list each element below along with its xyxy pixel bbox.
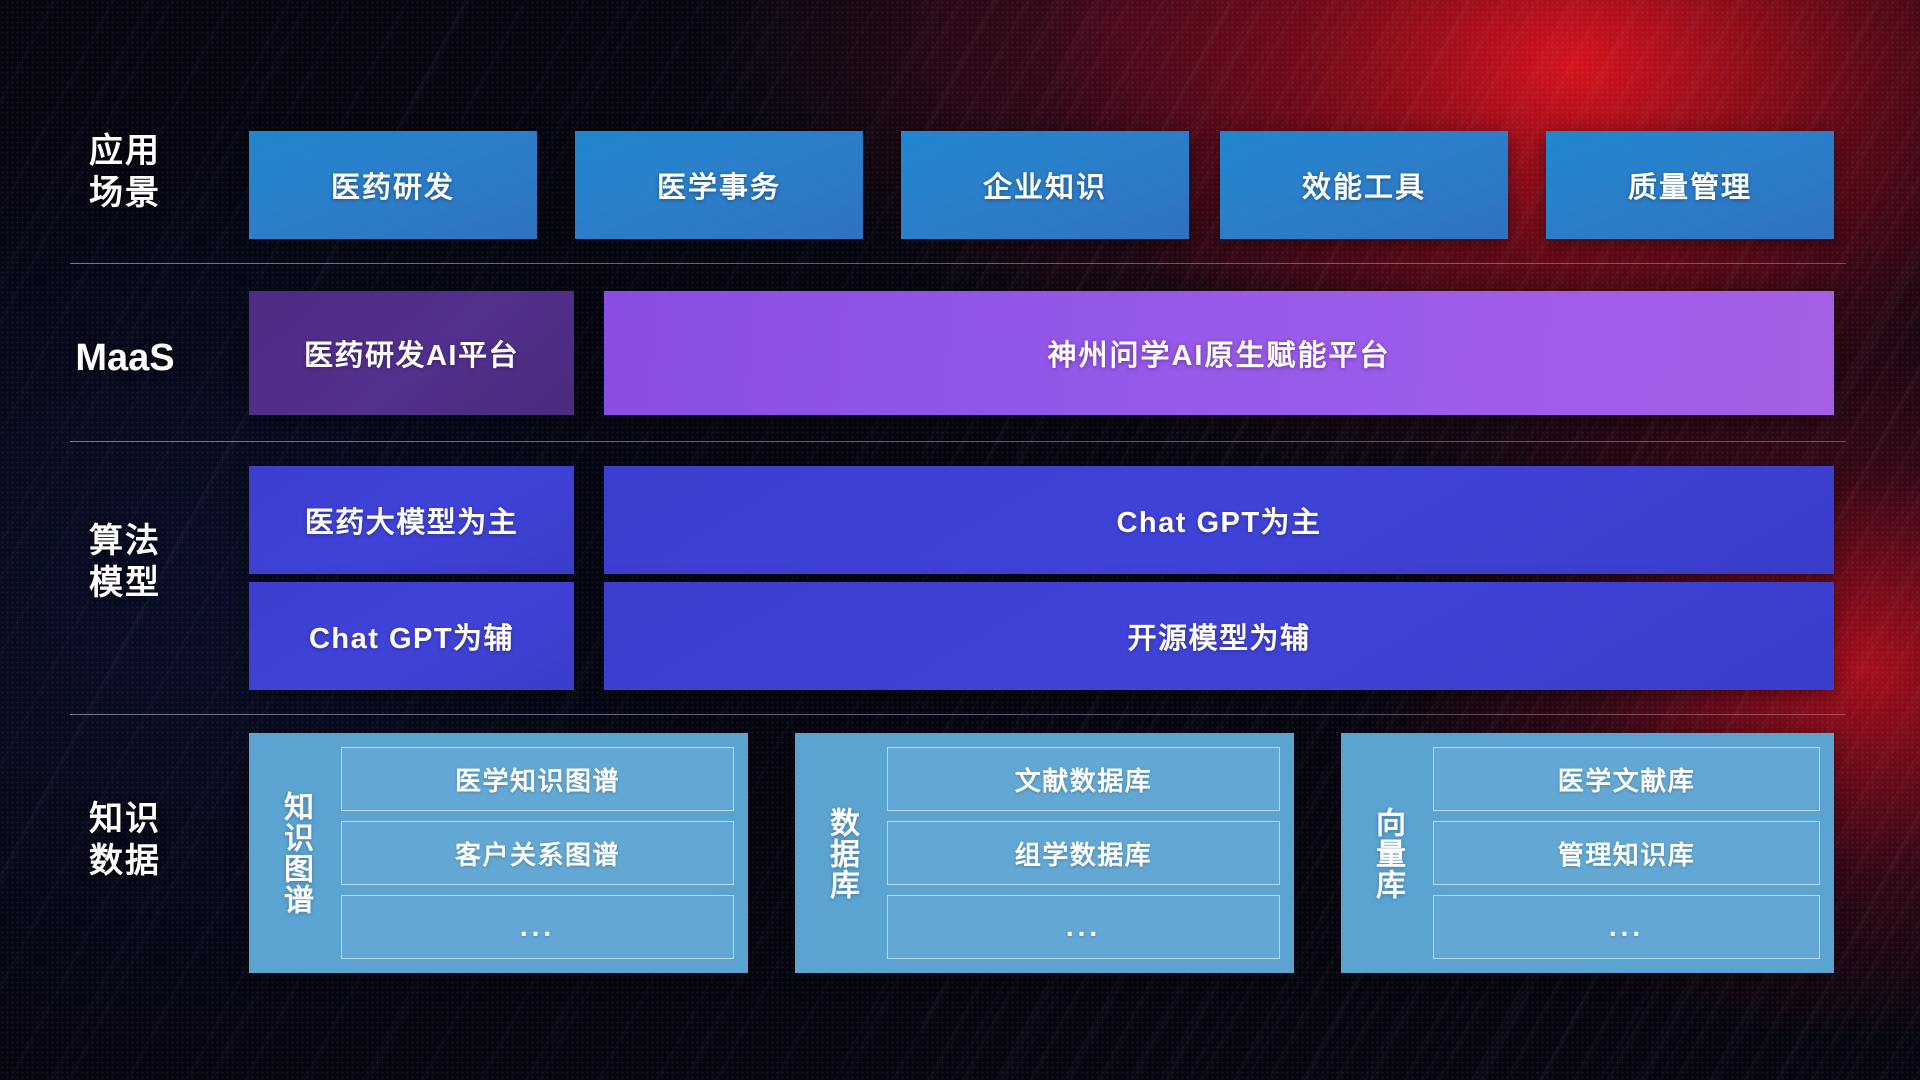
- knowledge-group-vector-store: 向量库 医学文献库 管理知识库 ...: [1341, 733, 1834, 973]
- knowledge-group-title: 向量库: [1341, 747, 1433, 959]
- row-label-algorithm-model: 算法 模型: [30, 520, 220, 604]
- divider-3: [70, 714, 1846, 715]
- knowledge-item-more[interactable]: ...: [1433, 895, 1820, 959]
- algo-left-primary[interactable]: 医药大模型为主: [249, 466, 574, 574]
- algo-right-secondary[interactable]: 开源模型为辅: [604, 582, 1834, 690]
- app-scenario-item-1[interactable]: 医学事务: [575, 131, 863, 239]
- knowledge-item[interactable]: 医学知识图谱: [341, 747, 734, 811]
- knowledge-item[interactable]: 管理知识库: [1433, 821, 1820, 885]
- row-label-line-2: 数据: [30, 840, 220, 882]
- app-scenario-item-0[interactable]: 医药研发: [249, 131, 537, 239]
- knowledge-group-items: 医学知识图谱 客户关系图谱 ...: [341, 747, 734, 959]
- row-label-line-1: 算法: [30, 520, 220, 562]
- slide-canvas: 应用 场景 医药研发 医学事务 企业知识 效能工具 质量管理 MaaS 医药研发…: [0, 0, 1920, 1080]
- row-label-line-2: 场景: [30, 172, 220, 214]
- knowledge-item[interactable]: 客户关系图谱: [341, 821, 734, 885]
- architecture-diagram: 应用 场景 医药研发 医学事务 企业知识 效能工具 质量管理 MaaS 医药研发…: [0, 0, 1920, 1080]
- knowledge-group-title: 知识图谱: [249, 747, 341, 959]
- knowledge-group-knowledge-graph: 知识图谱 医学知识图谱 客户关系图谱 ...: [249, 733, 748, 973]
- knowledge-group-database: 数据库 文献数据库 组学数据库 ...: [795, 733, 1294, 973]
- app-scenario-item-4[interactable]: 质量管理: [1546, 131, 1834, 239]
- knowledge-item[interactable]: 组学数据库: [887, 821, 1280, 885]
- row-label-line-1: 应用: [30, 130, 220, 172]
- row-label-line-2: 模型: [30, 562, 220, 604]
- row-label-maas: MaaS: [30, 337, 220, 379]
- knowledge-item-more[interactable]: ...: [341, 895, 734, 959]
- divider-1: [70, 263, 1846, 264]
- maas-platform-right[interactable]: 神州问学AI原生赋能平台: [604, 291, 1834, 415]
- app-scenario-item-2[interactable]: 企业知识: [901, 131, 1189, 239]
- row-label-line-1: 知识: [30, 798, 220, 840]
- algo-right-primary[interactable]: Chat GPT为主: [604, 466, 1834, 574]
- maas-platform-left[interactable]: 医药研发AI平台: [249, 291, 574, 415]
- row-label-application-scenario: 应用 场景: [30, 130, 220, 214]
- knowledge-item-more[interactable]: ...: [887, 895, 1280, 959]
- algo-left-secondary[interactable]: Chat GPT为辅: [249, 582, 574, 690]
- app-scenario-item-3[interactable]: 效能工具: [1220, 131, 1508, 239]
- divider-2: [70, 441, 1846, 442]
- row-label-knowledge-data: 知识 数据: [30, 798, 220, 882]
- knowledge-group-items: 文献数据库 组学数据库 ...: [887, 747, 1280, 959]
- knowledge-group-title: 数据库: [795, 747, 887, 959]
- knowledge-item[interactable]: 医学文献库: [1433, 747, 1820, 811]
- knowledge-item[interactable]: 文献数据库: [887, 747, 1280, 811]
- knowledge-group-items: 医学文献库 管理知识库 ...: [1433, 747, 1820, 959]
